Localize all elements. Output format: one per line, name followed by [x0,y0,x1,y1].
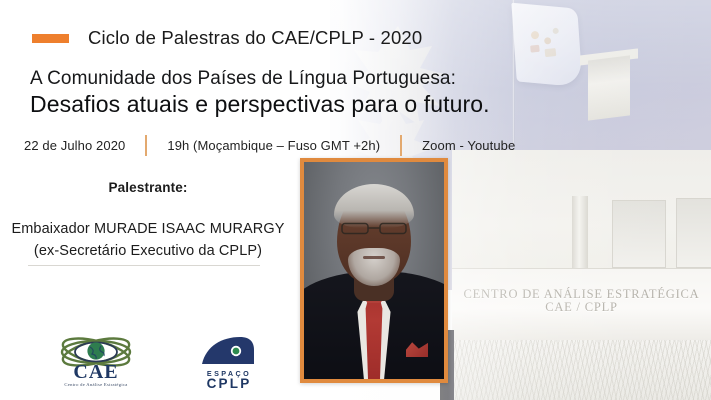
glasses-icon [340,222,408,235]
poster-canvas: CENTRO DE ANÁLISE ESTRATÉGICA CAE / CPLP… [0,0,711,400]
espaco-cplp-logo-icon: ESPAÇO CPLP [196,334,262,390]
headline-line-2: Desafios atuais e perspectivas para o fu… [30,91,590,119]
event-meta: 22 de Julho 2020 19h (Moçambique – Fuso … [24,135,515,156]
speaker-role: (ex-Secretário Executivo da CPLP) [0,243,296,259]
event-platform: Zoom - Youtube [422,138,515,153]
event-date: 22 de Julho 2020 [24,138,125,153]
svg-text:CAE: CAE [73,361,118,383]
meta-separator [400,135,402,156]
portrait-mouth [363,256,385,259]
svg-text:CPLP: CPLP [207,376,252,390]
speaker-name: Embaixador MURADE ISAAC MURARGY [0,221,296,237]
logo-row: CAE Centro de Análise Estratégica ESPAÇO… [44,334,262,390]
kicker-label: Ciclo de Palestras do CAE/CPLP - 2020 [88,27,422,49]
svg-text:Centro de Análise Estratégica: Centro de Análise Estratégica [64,382,127,387]
kicker: Ciclo de Palestras do CAE/CPLP - 2020 [32,27,422,49]
meta-separator [145,135,147,156]
speaker-label: Palestrante: [0,180,296,195]
portrait-image [304,162,444,379]
logo-espaco-cplp: ESPAÇO CPLP [196,334,262,390]
speaker-block: Palestrante: Embaixador MURADE ISAAC MUR… [0,180,296,259]
speaker-portrait [300,158,448,383]
poster-content: Ciclo de Palestras do CAE/CPLP - 2020 A … [0,0,711,400]
headline-line-1: A Comunidade dos Países de Língua Portug… [30,68,590,90]
kicker-dash-icon [32,34,69,43]
event-time: 19h (Moçambique – Fuso GMT +2h) [167,138,380,153]
headline: A Comunidade dos Países de Língua Portug… [30,68,590,119]
logo-cae: CAE Centro de Análise Estratégica [44,334,148,390]
cae-logo-icon: CAE Centro de Análise Estratégica [44,334,148,390]
section-divider [28,265,260,266]
